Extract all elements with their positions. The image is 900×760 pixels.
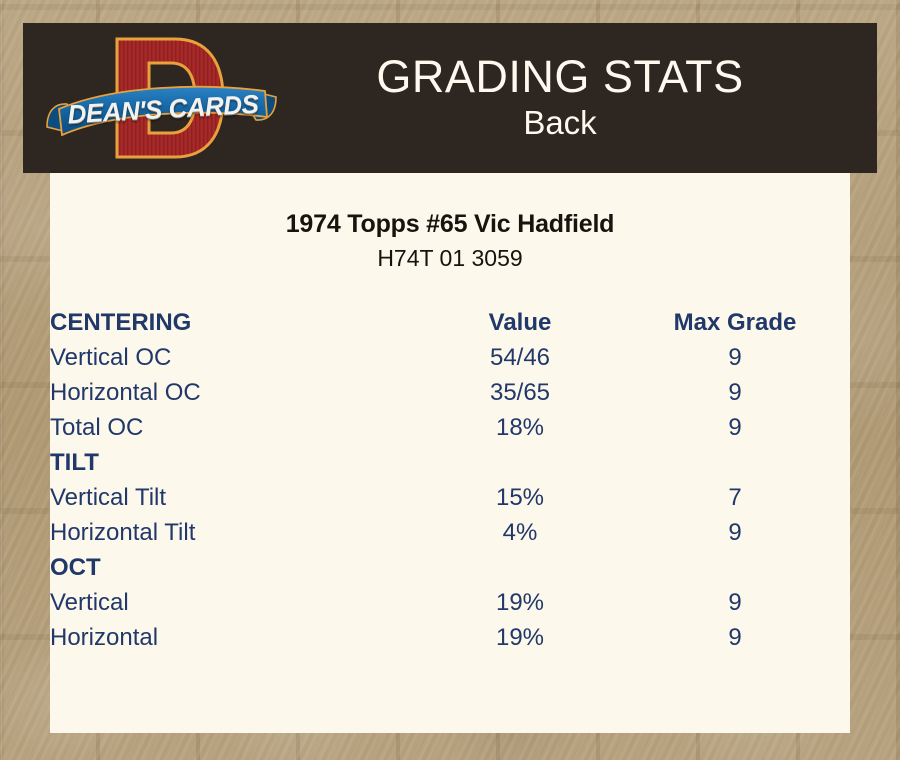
row-label: Horizontal — [50, 620, 420, 655]
row-value: 54/46 — [420, 340, 620, 375]
row-label: Horizontal OC — [50, 375, 420, 410]
row-value: 19% — [420, 620, 620, 655]
deans-cards-logo[interactable]: DEAN'S CARDS — [23, 23, 285, 173]
row-value: 19% — [420, 585, 620, 620]
row-max-grade: 9 — [620, 375, 850, 410]
row-value — [420, 445, 620, 480]
row-max-grade: 9 — [620, 585, 850, 620]
card-serial-number: H74T 01 3059 — [50, 245, 850, 272]
table-row: Vertical OC54/469 — [50, 340, 850, 375]
row-max-grade: 9 — [620, 410, 850, 445]
row-max-grade — [620, 550, 850, 585]
logo-ribbon-icon — [45, 81, 278, 139]
column-header-centering: CENTERING — [50, 305, 420, 340]
row-value: 35/65 — [420, 375, 620, 410]
content-panel: 1974 Topps #65 Vic Hadfield H74T 01 3059… — [50, 173, 850, 733]
row-value: 18% — [420, 410, 620, 445]
header-bar: DEAN'S CARDS GRADING STATS Back — [23, 23, 877, 173]
table-row: Vertical Tilt15%7 — [50, 480, 850, 515]
table-row: Horizontal19%9 — [50, 620, 850, 655]
table-row: Horizontal OC35/659 — [50, 375, 850, 410]
table-row: Horizontal Tilt4%9 — [50, 515, 850, 550]
row-label: Total OC — [50, 410, 420, 445]
row-max-grade: 9 — [620, 515, 850, 550]
row-label: Vertical — [50, 585, 420, 620]
column-header-max-grade: Max Grade — [620, 305, 850, 340]
section-label: OCT — [50, 550, 420, 585]
table-row: Vertical19%9 — [50, 585, 850, 620]
row-max-grade — [620, 445, 850, 480]
grading-stats-table: CENTERING Value Max Grade Vertical OC54/… — [50, 305, 850, 655]
header-titles: GRADING STATS Back — [285, 53, 877, 144]
section-header-row: TILT — [50, 445, 850, 480]
row-label: Vertical OC — [50, 340, 420, 375]
row-max-grade: 9 — [620, 620, 850, 655]
row-value — [420, 550, 620, 585]
row-max-grade: 7 — [620, 480, 850, 515]
row-max-grade: 9 — [620, 340, 850, 375]
row-value: 15% — [420, 480, 620, 515]
column-header-value: Value — [420, 305, 620, 340]
row-value: 4% — [420, 515, 620, 550]
card-title: 1974 Topps #65 Vic Hadfield — [50, 210, 850, 239]
page-title: GRADING STATS — [285, 53, 835, 100]
table-body: Vertical OC54/469Horizontal OC35/659Tota… — [50, 340, 850, 655]
section-header-row: OCT — [50, 550, 850, 585]
table-row: Total OC18%9 — [50, 410, 850, 445]
row-label: Horizontal Tilt — [50, 515, 420, 550]
page-subtitle: Back — [285, 102, 835, 143]
row-label: Vertical Tilt — [50, 480, 420, 515]
section-label: TILT — [50, 445, 420, 480]
table-header-row: CENTERING Value Max Grade — [50, 305, 850, 340]
